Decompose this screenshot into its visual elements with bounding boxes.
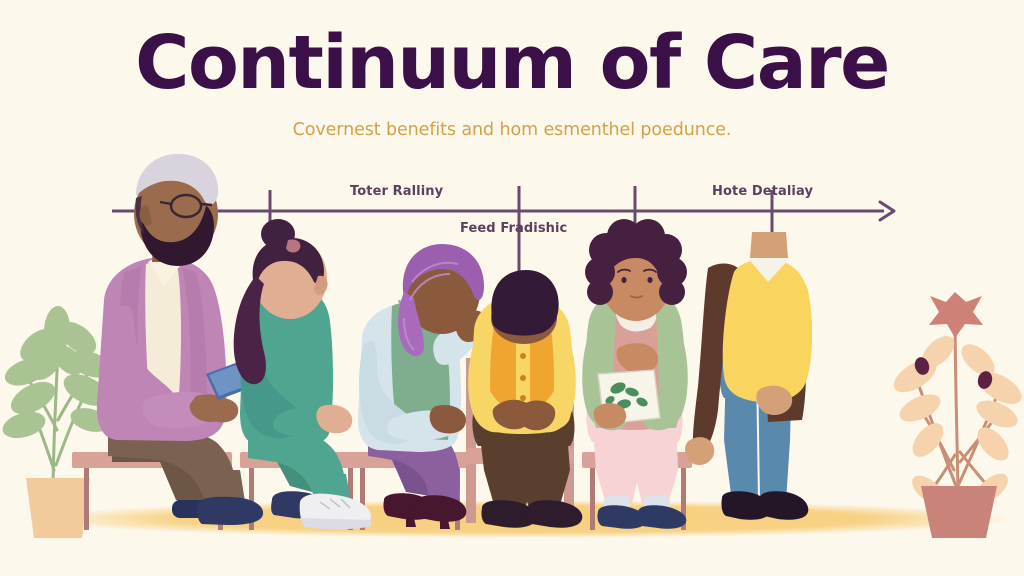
text-layer: Continuum of Care Covernest benefits and… <box>0 0 1024 576</box>
timeline-label-1: Toter Ralliny <box>350 184 443 199</box>
page-title: Continuum of Care <box>0 26 1024 100</box>
timeline-label-2: Feed Fradishic <box>460 221 567 236</box>
timeline-label-3: Hote Detaliay <box>712 184 813 199</box>
illustration-canvas: Continuum of Care Covernest benefits and… <box>0 0 1024 576</box>
page-subtitle: Covernest benefits and hom esmenthel poe… <box>0 120 1024 140</box>
